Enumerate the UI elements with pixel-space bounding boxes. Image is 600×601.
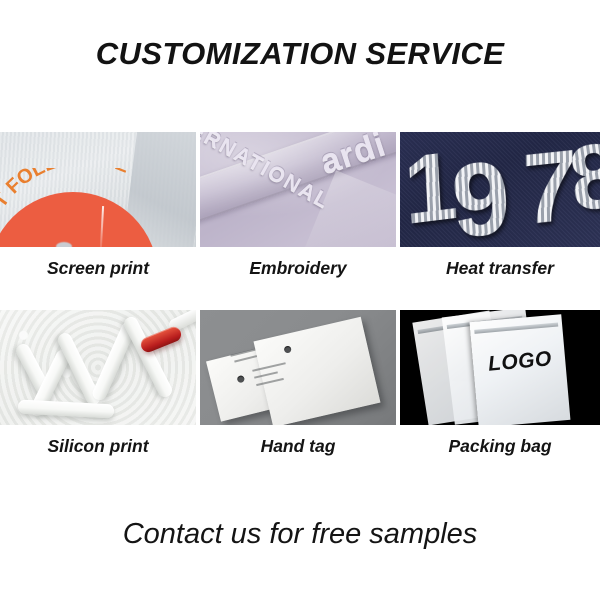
service-card-label: Screen print — [0, 247, 196, 289]
screen-print-arc-text: N'T FOLLOW ME — [0, 168, 165, 238]
packing-bag-thumbnail: LOGO — [400, 310, 600, 425]
silicon-print-thumbnail — [0, 310, 196, 425]
service-card-label: Silicon print — [0, 425, 196, 467]
service-card-silicon-print[interactable]: Silicon print — [0, 310, 196, 467]
service-row: N'T FOLLOW ME Screen print ardi ERNATION… — [0, 132, 600, 289]
footer-cta-text: Contact us for free samples — [0, 518, 600, 551]
customization-service-banner: CUSTOMIZATION SERVICE N'T FOLLOW ME — [0, 0, 600, 601]
screen-print-thumbnail: N'T FOLLOW ME — [0, 132, 196, 247]
service-card-packing-bag[interactable]: LOGO Packing bag — [400, 310, 600, 467]
hang-tag-front — [254, 317, 381, 425]
hand-tag-thumbnail — [200, 310, 396, 425]
embroidery-thumbnail: ardi ERNATIONAL — [200, 132, 396, 247]
service-card-label: Hand tag — [200, 425, 396, 467]
service-grid: N'T FOLLOW ME Screen print ardi ERNATION… — [0, 132, 600, 467]
print-detail-blob — [56, 242, 72, 247]
svg-text:N'T FOLLOW ME: N'T FOLLOW ME — [0, 168, 132, 228]
heat-transfer-thumbnail: 1 9 7 8 — [400, 132, 600, 247]
tag-punch-hole — [283, 345, 291, 353]
bag-zip-strip — [474, 323, 558, 334]
service-card-screen-print[interactable]: N'T FOLLOW ME Screen print — [0, 132, 196, 289]
service-card-heat-transfer[interactable]: 1 9 7 8 Heat transfer — [400, 132, 600, 289]
service-card-label: Heat transfer — [400, 247, 600, 289]
service-card-label: Embroidery — [200, 247, 396, 289]
service-card-hand-tag[interactable]: Hand tag — [200, 310, 396, 467]
service-row: Silicon print Hand tag — [0, 310, 600, 467]
heat-transfer-glyph: 9 — [449, 152, 513, 247]
service-card-label: Packing bag — [400, 425, 600, 467]
tag-punch-hole — [237, 375, 245, 383]
page-title: CUSTOMIZATION SERVICE — [0, 36, 600, 72]
service-card-embroidery[interactable]: ardi ERNATIONAL Embroidery — [200, 132, 396, 289]
arc-text-content: N'T FOLLOW ME — [0, 168, 132, 228]
